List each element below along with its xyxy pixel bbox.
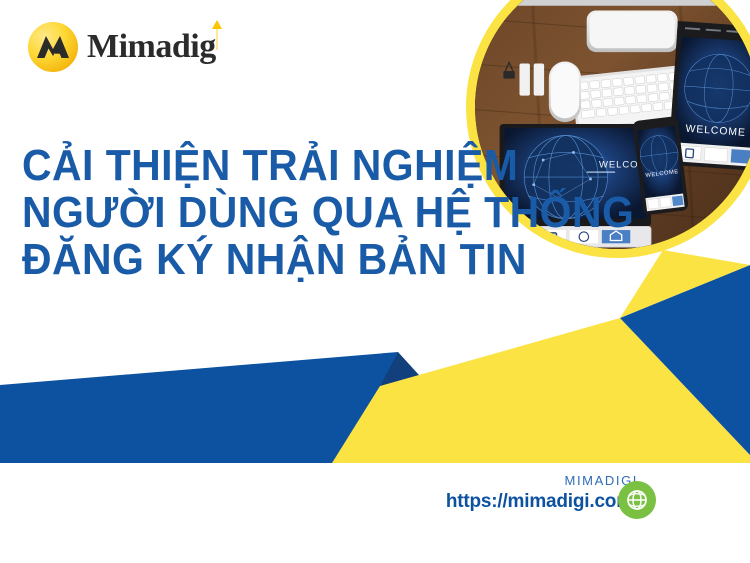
logo-wordmark: Mimadig <box>87 30 216 64</box>
yellow-quad <box>332 318 750 463</box>
footer-contact: MIMADIGI https://mimadigi.com/ <box>446 474 638 511</box>
headline-line-2: NGƯỜI DÙNG QUA HỆ THỐNG <box>22 189 459 236</box>
navy-accent-triangle <box>380 352 429 386</box>
headline-line-1: CẢI THIỆN TRẢI NGHIỆM <box>22 142 459 189</box>
poster-canvas: WELCOME <box>0 0 750 563</box>
blue-wedge-left <box>0 352 398 463</box>
blue-triangle-right <box>620 265 750 455</box>
page-title: CẢI THIỆN TRẢI NGHIỆM NGƯỜI DÙNG QUA HỆ … <box>22 142 492 283</box>
brand-logo[interactable]: Mimadig <box>28 18 216 76</box>
yellow-top-notch <box>620 250 750 318</box>
footer-website-url[interactable]: https://mimadigi.com/ <box>446 492 638 511</box>
logo-wordmark-group: Mimadig <box>87 30 216 64</box>
footer-brand-name: MIMADIGI <box>446 474 638 487</box>
blue-band-right <box>330 420 398 463</box>
ma-monogram-icon <box>28 22 78 72</box>
globe-icon[interactable] <box>618 481 656 519</box>
headline-line-3: ĐĂNG KÝ NHẬN BẢN TIN <box>22 236 459 283</box>
growth-arrow-icon <box>209 20 225 50</box>
